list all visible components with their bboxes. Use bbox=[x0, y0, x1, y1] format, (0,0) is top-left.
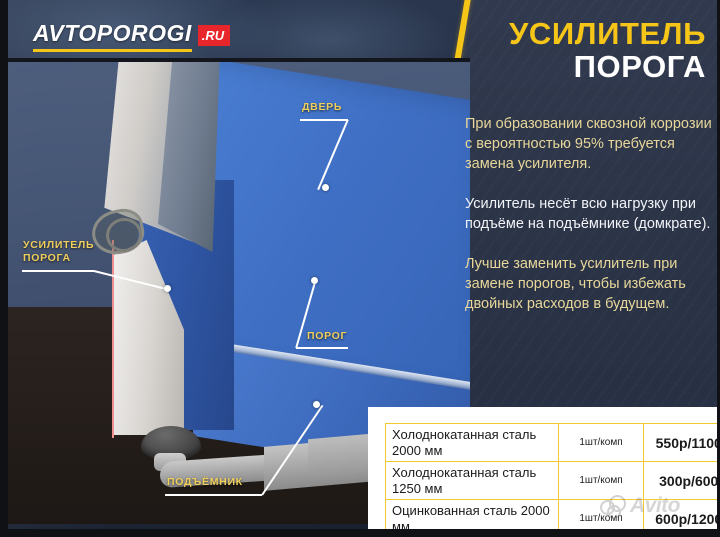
callout-dot-lift bbox=[313, 401, 320, 408]
illustration-top-edge bbox=[8, 58, 470, 62]
price-table-body: Холоднокатанная сталь 2000 мм 1шт/комп 5… bbox=[386, 424, 720, 537]
callout-label-door: ДВЕРЬ bbox=[302, 101, 342, 114]
copy-paragraph-3: Лучше заменить усилитель при замене поро… bbox=[465, 254, 713, 314]
table-row: Холоднокатанная сталь 1250 мм 1шт/комп 3… bbox=[386, 462, 720, 500]
callout-label-sill: ПОРОГ bbox=[307, 330, 347, 343]
price-row-unit: 1шт/комп bbox=[559, 462, 644, 500]
callout-underline-door bbox=[300, 119, 348, 121]
callout-dot-sill bbox=[311, 277, 318, 284]
price-table: Холоднокатанная сталь 2000 мм 1шт/комп 5… bbox=[385, 423, 720, 537]
logo-wordmark: AVTOPOROGI bbox=[33, 22, 192, 52]
sill-reinforcement-edge-line bbox=[112, 240, 114, 438]
table-row: Холоднокатанная сталь 2000 мм 1шт/комп 5… bbox=[386, 424, 720, 462]
headline-line-1: УСИЛИТЕЛЬ bbox=[509, 17, 706, 50]
headline: УСИЛИТЕЛЬ ПОРОГА bbox=[509, 17, 706, 84]
promo-banner: ДВЕРЬ УСИЛИТЕЛЬ ПОРОГА ПОРОГ ПОДЪЁМНИК A… bbox=[0, 0, 720, 537]
price-row-price: 550р/1100р bbox=[644, 424, 720, 462]
price-row-price: 300р/600р bbox=[644, 462, 720, 500]
callout-underline-lift bbox=[165, 494, 262, 496]
frame-left-edge bbox=[0, 0, 8, 537]
frame-bottom-edge bbox=[0, 529, 720, 537]
copy-paragraph-2: Усилитель несёт всю нагрузку при подъёме… bbox=[465, 194, 713, 234]
site-logo[interactable]: AVTOPOROGI .RU bbox=[33, 22, 230, 52]
callout-label-lift: ПОДЪЁМНИК bbox=[167, 476, 243, 489]
callout-underline-reinforcement bbox=[22, 270, 94, 272]
logo-tld-badge: .RU bbox=[198, 25, 230, 46]
price-row-material: Холоднокатанная сталь 1250 мм bbox=[386, 462, 559, 500]
callout-label-reinforcement: УСИЛИТЕЛЬ ПОРОГА bbox=[23, 239, 94, 265]
price-row-unit: 1шт/комп bbox=[559, 424, 644, 462]
price-row-material: Холоднокатанная сталь 2000 мм bbox=[386, 424, 559, 462]
info-copy: При образовании сквозной коррозии с веро… bbox=[465, 114, 713, 334]
headline-line-2: ПОРОГА bbox=[509, 50, 706, 83]
callout-underline-sill bbox=[296, 347, 348, 349]
copy-paragraph-1: При образовании сквозной коррозии с веро… bbox=[465, 114, 713, 174]
callout-dot-reinforcement bbox=[164, 285, 171, 292]
callout-dot-door bbox=[322, 184, 329, 191]
